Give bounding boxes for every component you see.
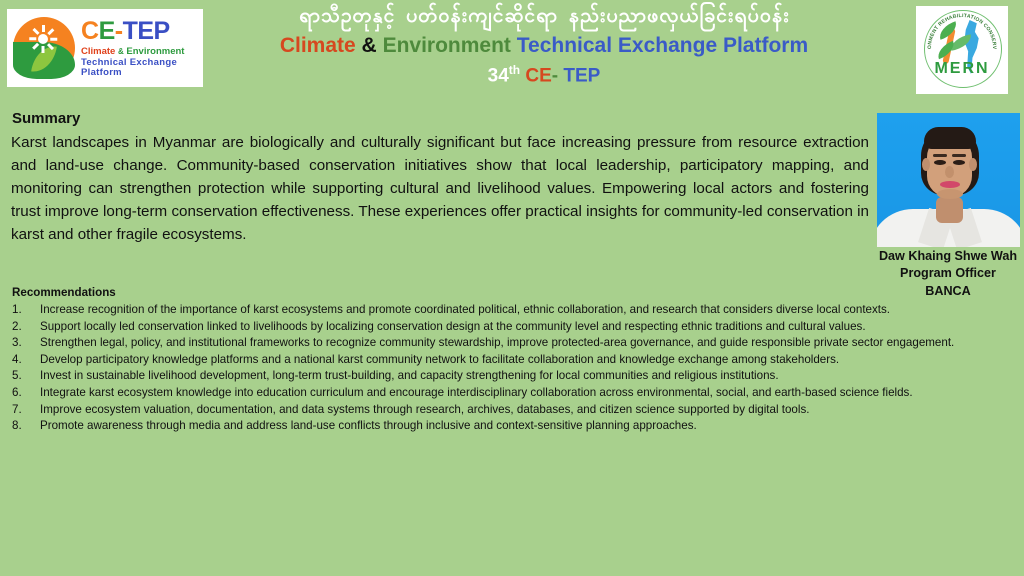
logo-subtitle-one: Climate & Environment: [81, 47, 199, 57]
sun-icon: [29, 25, 57, 53]
logo-letter-c: C: [81, 17, 99, 45]
list-item-number: 1.: [12, 302, 40, 318]
logo-sub-climate: Climate: [81, 46, 115, 57]
list-item: 5. Invest in sustainable livelihood deve…: [12, 368, 1012, 384]
list-item-text: Improve ecosystem valuation, documentati…: [40, 402, 1012, 418]
list-item-text: Increase recognition of the importance o…: [40, 302, 1012, 318]
logo-wordmark: CE-TEP: [81, 19, 199, 44]
list-item: 8. Promote awareness through media and a…: [12, 418, 1012, 434]
logo-sub-amp: &: [118, 47, 124, 56]
speaker-photo: [877, 113, 1020, 247]
logo-letter-e: E: [99, 17, 115, 45]
title-word-environment: Environment: [383, 34, 511, 57]
list-item-text: Develop participatory knowledge platform…: [40, 352, 1012, 368]
list-item-text: Integrate karst ecosystem knowledge into…: [40, 385, 1012, 401]
speaker-role: Program Officer: [872, 265, 1024, 282]
speaker-caption: Daw Khaing Shwe Wah Program Officer BANC…: [872, 248, 1024, 300]
list-item-number: 4.: [12, 352, 40, 368]
list-item: 7. Improve ecosystem valuation, document…: [12, 402, 1012, 418]
list-item-number: 7.: [12, 402, 40, 418]
edition-number: 34: [488, 65, 509, 86]
list-item-text: Strengthen legal, policy, and institutio…: [40, 335, 1012, 351]
title-word-ampersand: &: [362, 34, 377, 57]
list-item-text: Promote awareness through media and addr…: [40, 418, 1012, 434]
list-item: 4. Develop participatory knowledge platf…: [12, 352, 1012, 368]
list-item: 1. Increase recognition of the importanc…: [12, 302, 1012, 318]
slide-root: CE-TEP Climate & Environment Technical E…: [0, 0, 1024, 576]
ce-tep-logo: CE-TEP Climate & Environment Technical E…: [7, 9, 203, 87]
speaker-portrait-image: [877, 113, 1020, 247]
list-item: 3. Strengthen legal, policy, and institu…: [12, 335, 1012, 351]
summary-heading: Summary: [12, 110, 80, 127]
mern-wordmark: MERN: [916, 60, 1008, 78]
list-item: 6. Integrate karst ecosystem knowledge i…: [12, 385, 1012, 401]
logo-subtitle-two: Technical Exchange Platform: [81, 58, 199, 77]
edition-ce: CE: [525, 65, 551, 86]
list-item: 2. Support locally led conservation link…: [12, 319, 1012, 335]
title-edition: 34th CE- TEP: [206, 62, 882, 89]
list-item-number: 6.: [12, 385, 40, 401]
list-item-text: Support locally led conservation linked …: [40, 319, 1012, 335]
logo-sub-environment: Environment: [126, 46, 184, 57]
summary-text: Karst landscapes in Myanmar are biologic…: [11, 131, 869, 246]
edition-ordinal: th: [509, 63, 520, 77]
list-item-text: Invest in sustainable livelihood develop…: [40, 368, 1012, 384]
edition-dash: -: [552, 65, 558, 86]
recommendations-list: 1. Increase recognition of the importanc…: [12, 302, 1012, 435]
speaker-name: Daw Khaing Shwe Wah: [872, 248, 1024, 265]
edition-tep: TEP: [563, 65, 600, 86]
speaker-organization: BANCA: [872, 283, 1024, 300]
list-item-number: 8.: [12, 418, 40, 434]
list-item-number: 2.: [12, 319, 40, 335]
title-english: Climate & Environment Technical Exchange…: [206, 32, 882, 60]
title-word-climate: Climate: [280, 34, 356, 57]
list-item-number: 3.: [12, 335, 40, 351]
mern-logo: MYANMAR ENVIRONMENT REHABILITATION CONSE…: [916, 6, 1008, 94]
title-burmese: ရာသီဥတုနှင့် ပတ်ဝန်းကျင်ဆိုင်ရာ နည်းပညာဖ…: [206, 5, 882, 31]
header-titles: ရာသီဥတုနှင့် ပတ်ဝန်းကျင်ဆိုင်ရာ နည်းပညာဖ…: [206, 5, 882, 89]
sun-leaf-icon: [13, 17, 75, 79]
slide-header: CE-TEP Climate & Environment Technical E…: [0, 0, 1024, 104]
logo-dash: -: [115, 17, 123, 45]
list-item-number: 5.: [12, 368, 40, 384]
recommendations-heading: Recommendations: [12, 286, 116, 299]
logo-letters-tep: TEP: [123, 17, 170, 45]
title-word-platform: Technical Exchange Platform: [517, 34, 808, 57]
